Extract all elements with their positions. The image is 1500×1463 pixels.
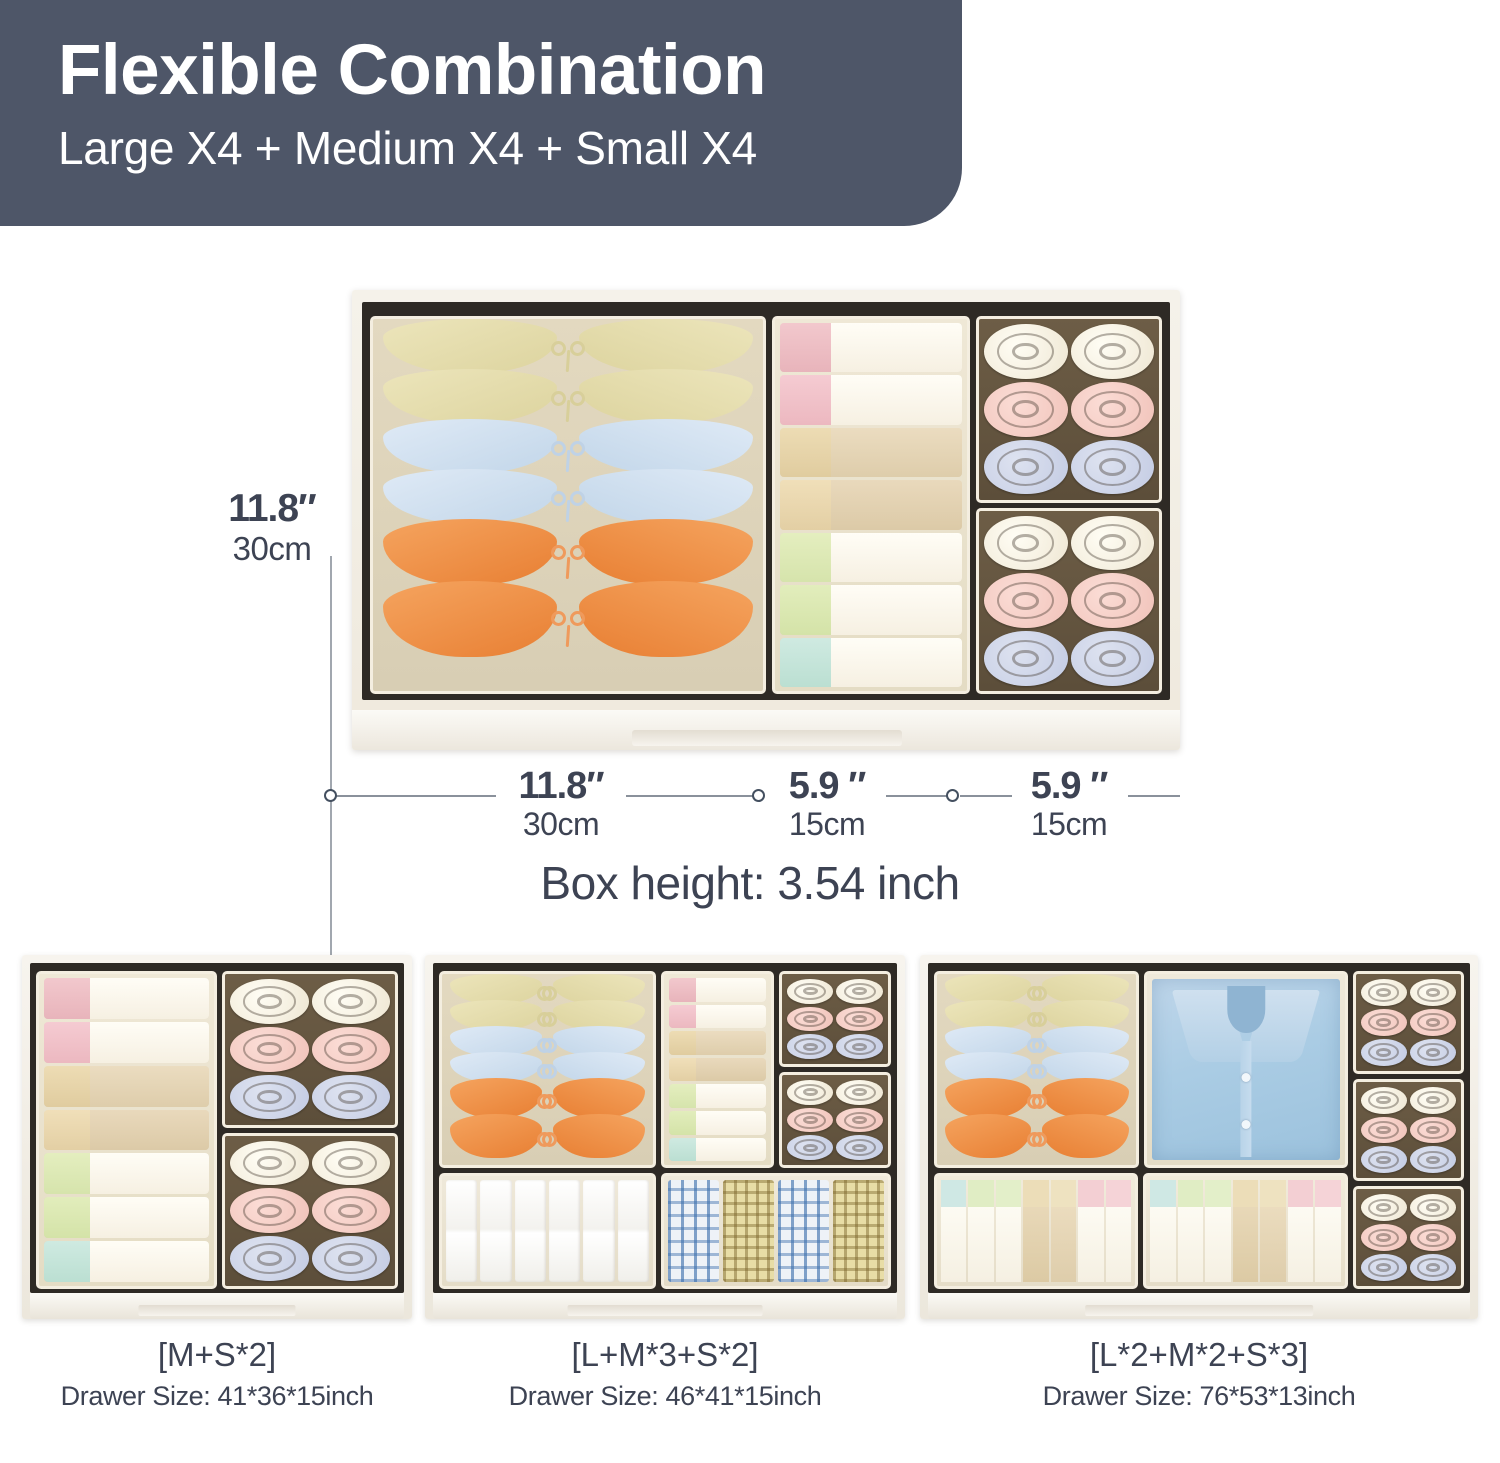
rolled-sock bbox=[1361, 1117, 1407, 1144]
rolled-garment bbox=[780, 375, 962, 424]
h-dim-cm: 30cm bbox=[496, 806, 626, 842]
folded-item bbox=[1106, 1180, 1131, 1282]
panel-drawer-size: Drawer Size: 46*41*15inch bbox=[425, 1377, 905, 1415]
rolled-sock bbox=[787, 1135, 834, 1160]
rolled-sock bbox=[230, 1075, 309, 1120]
drawer-front-panel bbox=[30, 1293, 404, 1319]
drawer-front-panel bbox=[928, 1293, 1470, 1319]
banner-subtitle: Large X4 + Medium X4 + Small X4 bbox=[58, 118, 962, 178]
rolled-sock bbox=[836, 1034, 883, 1059]
drawer-front-panel bbox=[433, 1293, 897, 1319]
folded-item bbox=[1260, 1180, 1285, 1282]
panel-caption-1: [M+S*2] Drawer Size: 41*36*15inch bbox=[22, 1335, 412, 1415]
rolled-sock bbox=[836, 1108, 883, 1133]
h-dim-inch: 5.9 ″ bbox=[1010, 766, 1128, 806]
rolled-sock bbox=[787, 1007, 834, 1032]
horizontal-dimension-row: 11.8″ 30cm 5.9 ″ 15cm 5.9 ″ 15cm bbox=[0, 766, 1500, 856]
rolled-garment bbox=[44, 1241, 209, 1282]
medium-compartment-plaid bbox=[661, 1173, 891, 1289]
panel-caption-2: [L+M*3+S*2] Drawer Size: 46*41*15inch bbox=[425, 1335, 905, 1415]
plaid-item bbox=[833, 1180, 884, 1282]
small-compartment-socks bbox=[222, 1133, 398, 1290]
plaid-item bbox=[668, 1180, 719, 1282]
folded-item bbox=[968, 1180, 993, 1282]
rolled-sock bbox=[1361, 1087, 1407, 1114]
small-compartment-socks bbox=[1353, 971, 1464, 1074]
rolled-garment bbox=[780, 480, 962, 529]
drawer-handle bbox=[138, 1305, 295, 1316]
folded-item bbox=[1150, 1180, 1175, 1282]
h-dim-label-3: 5.9 ″ 15cm bbox=[1010, 766, 1128, 842]
small-compartment-column bbox=[779, 971, 891, 1168]
rolled-towel bbox=[549, 1180, 580, 1282]
panel-caption-3: [L*2+M*2+S*3] Drawer Size: 76*53*13inch bbox=[920, 1335, 1478, 1415]
h-dim-label-2: 5.9 ″ 15cm bbox=[768, 766, 886, 842]
rolled-garment bbox=[780, 585, 962, 634]
bra-item bbox=[379, 469, 757, 523]
rolled-sock bbox=[787, 979, 834, 1004]
rolled-sock bbox=[312, 979, 391, 1024]
folded-shirt bbox=[1152, 979, 1339, 1160]
rolled-garment bbox=[44, 1153, 209, 1194]
large-compartment-bras bbox=[370, 316, 766, 694]
rolled-garment bbox=[669, 1084, 766, 1108]
rolled-sock bbox=[1361, 1194, 1407, 1221]
rolled-sock bbox=[1361, 1146, 1407, 1173]
rolled-sock bbox=[312, 1027, 391, 1072]
panel-drawer-size: Drawer Size: 76*53*13inch bbox=[920, 1377, 1478, 1415]
rolled-sock bbox=[312, 1188, 391, 1233]
rolled-towel bbox=[446, 1180, 477, 1282]
rolled-sock bbox=[984, 324, 1068, 379]
variant-panel-1: [M+S*2] Drawer Size: 41*36*15inch bbox=[22, 955, 412, 1415]
small-compartment-column bbox=[1353, 971, 1464, 1289]
rolled-towel bbox=[583, 1180, 614, 1282]
rolled-sock bbox=[984, 440, 1068, 495]
small-compartment-socks bbox=[976, 508, 1162, 695]
vertical-dimension-label: 11.8″ 30cm bbox=[222, 488, 322, 568]
rolled-towel bbox=[480, 1180, 511, 1282]
rolled-garment bbox=[44, 1197, 209, 1238]
panel-code: [L+M*3+S*2] bbox=[425, 1335, 905, 1375]
rolled-sock bbox=[1410, 1224, 1456, 1251]
rolled-sock bbox=[230, 1141, 309, 1186]
folded-item bbox=[1233, 1180, 1258, 1282]
folded-item bbox=[1315, 1180, 1340, 1282]
medium-compartment-folded bbox=[1143, 1173, 1347, 1289]
rolled-garment bbox=[669, 1138, 766, 1162]
header-banner: Flexible Combination Large X4 + Medium X… bbox=[0, 0, 962, 226]
box-height-note: Box height: 3.54 inch bbox=[0, 856, 1500, 910]
bra-item bbox=[448, 1078, 647, 1118]
rolled-garment bbox=[780, 428, 962, 477]
rolled-sock bbox=[836, 1007, 883, 1032]
drawer-preview-1 bbox=[22, 955, 412, 1319]
h-dim-label-1: 11.8″ 30cm bbox=[496, 766, 626, 842]
bra-item bbox=[943, 1114, 1130, 1158]
rolled-sock bbox=[230, 1188, 309, 1233]
bra-item bbox=[943, 1078, 1130, 1118]
folded-item bbox=[1288, 1180, 1313, 1282]
h-dim-cm: 15cm bbox=[1010, 806, 1128, 842]
bra-item bbox=[379, 319, 757, 373]
rolled-sock bbox=[984, 382, 1068, 437]
panel-code: [M+S*2] bbox=[22, 1335, 412, 1375]
rolled-sock bbox=[787, 1034, 834, 1059]
rolled-garment bbox=[780, 638, 962, 687]
h-dim-endpoint bbox=[752, 789, 765, 802]
rolled-sock bbox=[230, 979, 309, 1024]
rolled-garment bbox=[669, 1058, 766, 1082]
plaid-item bbox=[723, 1180, 774, 1282]
rolled-garment bbox=[669, 1031, 766, 1055]
drawer-interior bbox=[30, 963, 404, 1293]
rolled-sock bbox=[1410, 1194, 1456, 1221]
medium-compartment-towels bbox=[439, 1173, 656, 1289]
small-compartment-socks bbox=[779, 971, 891, 1067]
large-compartment-bras bbox=[439, 971, 656, 1168]
bra-item bbox=[379, 369, 757, 423]
rolled-sock bbox=[836, 979, 883, 1004]
rolled-garment bbox=[669, 978, 766, 1002]
drawer-front-panel bbox=[352, 710, 1180, 750]
rolled-sock bbox=[1071, 516, 1155, 571]
rolled-sock bbox=[1071, 440, 1155, 495]
rolled-sock bbox=[984, 516, 1068, 571]
rolled-garment bbox=[44, 1110, 209, 1151]
rolled-sock bbox=[1410, 1039, 1456, 1066]
variant-panel-2: [L+M*3+S*2] Drawer Size: 46*41*15inch bbox=[425, 955, 905, 1415]
rolled-sock bbox=[984, 631, 1068, 686]
rolled-garment bbox=[44, 1022, 209, 1063]
h-dim-cm: 15cm bbox=[768, 806, 886, 842]
drawer-interior bbox=[433, 963, 897, 1293]
rolled-towel bbox=[618, 1180, 649, 1282]
drawer-handle bbox=[632, 730, 902, 746]
bra-item bbox=[379, 581, 757, 657]
rolled-sock bbox=[836, 1135, 883, 1160]
rolled-sock bbox=[312, 1141, 391, 1186]
plaid-item bbox=[778, 1180, 829, 1282]
rolled-sock bbox=[312, 1236, 391, 1281]
main-drawer bbox=[352, 290, 1180, 750]
drawer-handle bbox=[568, 1305, 763, 1316]
small-compartment-column bbox=[976, 316, 1162, 694]
bra-item bbox=[379, 419, 757, 473]
small-compartment-socks bbox=[779, 1072, 891, 1168]
hero-section: 11.8″ 30cm bbox=[0, 226, 1500, 926]
rolled-sock bbox=[787, 1108, 834, 1133]
variant-panels: [M+S*2] Drawer Size: 41*36*15inch bbox=[0, 955, 1500, 1463]
rolled-sock bbox=[1071, 573, 1155, 628]
h-dim-endpoint bbox=[946, 789, 959, 802]
rolled-sock bbox=[1410, 1254, 1456, 1281]
medium-compartment-rolls bbox=[661, 971, 774, 1168]
folded-item bbox=[1051, 1180, 1076, 1282]
rolled-sock bbox=[1071, 382, 1155, 437]
folded-item bbox=[1205, 1180, 1230, 1282]
small-compartment-socks bbox=[1353, 1079, 1464, 1182]
rolled-sock bbox=[1361, 1224, 1407, 1251]
rolled-garment bbox=[44, 1066, 209, 1107]
vertical-dimension-cm: 30cm bbox=[222, 530, 322, 568]
small-compartment-socks bbox=[222, 971, 398, 1128]
banner-title: Flexible Combination bbox=[58, 28, 962, 114]
rolled-sock bbox=[1361, 979, 1407, 1006]
rolled-towel bbox=[515, 1180, 546, 1282]
rolled-sock bbox=[230, 1027, 309, 1072]
folded-item bbox=[996, 1180, 1021, 1282]
small-compartment-column bbox=[222, 971, 398, 1289]
rolled-sock bbox=[1361, 1009, 1407, 1036]
rolled-sock bbox=[1361, 1254, 1407, 1281]
vertical-dimension-inch: 11.8″ bbox=[222, 488, 322, 530]
medium-compartment-rolls bbox=[36, 971, 217, 1289]
drawer-preview-2 bbox=[425, 955, 905, 1319]
rolled-sock bbox=[1410, 1009, 1456, 1036]
drawer-preview-3 bbox=[920, 955, 1478, 1319]
rolled-garment bbox=[669, 1005, 766, 1029]
bra-item bbox=[379, 519, 757, 585]
small-compartment-socks bbox=[976, 316, 1162, 503]
rolled-garment bbox=[780, 533, 962, 582]
rolled-sock bbox=[836, 1080, 883, 1105]
drawer-interior bbox=[362, 302, 1170, 700]
folded-item bbox=[1178, 1180, 1203, 1282]
rolled-garment bbox=[780, 323, 962, 372]
folded-item bbox=[1023, 1180, 1048, 1282]
rolled-sock bbox=[1410, 1146, 1456, 1173]
large-compartment-shirt bbox=[1144, 971, 1347, 1168]
bra-item bbox=[448, 1114, 647, 1158]
rolled-sock bbox=[312, 1075, 391, 1120]
rolled-sock bbox=[230, 1236, 309, 1281]
panel-code: [L*2+M*2+S*3] bbox=[920, 1335, 1478, 1375]
rolled-sock bbox=[1361, 1039, 1407, 1066]
h-dim-inch: 11.8″ bbox=[496, 766, 626, 806]
rolled-sock bbox=[1071, 324, 1155, 379]
rolled-garment bbox=[669, 1111, 766, 1135]
rolled-sock bbox=[787, 1080, 834, 1105]
large-compartment-bras bbox=[934, 971, 1139, 1168]
rolled-sock bbox=[1410, 1087, 1456, 1114]
drawer-interior bbox=[928, 963, 1470, 1293]
rolled-sock bbox=[1410, 1117, 1456, 1144]
rolled-sock bbox=[1071, 631, 1155, 686]
drawer-handle bbox=[1085, 1305, 1313, 1316]
rolled-sock bbox=[984, 573, 1068, 628]
variant-panel-3: [L*2+M*2+S*3] Drawer Size: 76*53*13inch bbox=[920, 955, 1478, 1415]
h-dim-inch: 5.9 ″ bbox=[768, 766, 886, 806]
small-compartment-socks bbox=[1353, 1186, 1464, 1289]
folded-item bbox=[1078, 1180, 1103, 1282]
medium-compartment-rolls bbox=[772, 316, 970, 694]
medium-compartment-folded bbox=[934, 1173, 1138, 1289]
rolled-sock bbox=[1410, 979, 1456, 1006]
folded-item bbox=[941, 1180, 966, 1282]
rolled-garment bbox=[44, 978, 209, 1019]
panel-drawer-size: Drawer Size: 41*36*15inch bbox=[22, 1377, 412, 1415]
